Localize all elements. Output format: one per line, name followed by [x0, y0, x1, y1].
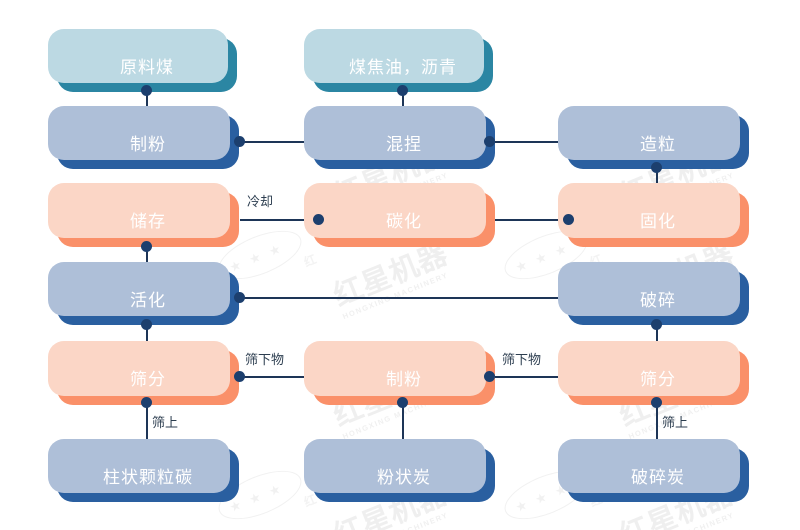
watermark-brand-en: HONGXING MACHINERY	[341, 268, 456, 321]
edge-label-cooling: 冷却	[247, 191, 273, 210]
node-label: 制粉	[386, 365, 422, 390]
node-label: 制粉	[130, 130, 166, 155]
node-label: 筛分	[130, 365, 166, 390]
node-pulverize-1[interactable]: 制粉	[57, 115, 239, 169]
edge-label-undersize-left: 筛下物	[245, 349, 284, 368]
connector-dot	[397, 85, 408, 96]
connector-dot	[141, 397, 152, 408]
node-label: 储存	[130, 207, 166, 232]
connector-dot	[651, 319, 662, 330]
node-activation[interactable]: 活化	[57, 271, 239, 325]
connector-dot	[141, 241, 152, 252]
watermark-logo: 红星机器 HONGXING MACHINERY	[330, 525, 450, 530]
connector-dot	[651, 397, 662, 408]
watermark-logo: 红星机器 HONGXING MACHINERY	[616, 525, 736, 530]
node-label: 筛分	[640, 365, 676, 390]
node-crushed-carbon[interactable]: 破碎炭	[567, 448, 749, 502]
connector-crushing-to-activation	[240, 297, 568, 299]
watermark-logo: 红星机器 HONGXING MACHINERY	[330, 285, 450, 324]
node-kneading[interactable]: 混捏	[313, 115, 495, 169]
node-label: 破碎炭	[631, 463, 685, 488]
connector-dot	[234, 371, 245, 382]
node-label: 混捏	[386, 130, 422, 155]
watermark-brand-en: HONGXING MACHINERY	[627, 508, 742, 530]
node-powdered-carbon[interactable]: 粉状炭	[313, 448, 495, 502]
node-granulation[interactable]: 造粒	[567, 115, 749, 169]
node-carbonization[interactable]: 碳化	[313, 192, 495, 247]
connector-dot	[651, 162, 662, 173]
edge-label-oversize-right: 筛上	[662, 412, 688, 431]
node-label: 煤焦油，沥青	[349, 53, 457, 78]
connector-dot	[563, 214, 574, 225]
node-label: 破碎	[640, 286, 676, 311]
connector-dot	[141, 319, 152, 330]
node-label: 造粒	[640, 130, 676, 155]
node-label: 柱状颗粒碳	[103, 463, 193, 488]
watermark-brand-cn: 红星机器	[330, 240, 452, 312]
connector-dot	[234, 136, 245, 147]
connector-kneading-to-granulation	[488, 141, 568, 143]
node-label: 活化	[130, 286, 166, 311]
node-raw-coal[interactable]: 原料煤	[57, 38, 237, 92]
node-label: 碳化	[386, 207, 422, 232]
connector-dot	[397, 397, 408, 408]
node-coal-tar-pitch[interactable]: 煤焦油，沥青	[313, 38, 493, 92]
node-crushing[interactable]: 破碎	[567, 271, 749, 325]
node-label: 固化	[640, 207, 676, 232]
connector-dot	[141, 85, 152, 96]
connector-dot	[484, 371, 495, 382]
connector-dot	[313, 214, 324, 225]
edge-label-undersize-right: 筛下物	[502, 349, 541, 368]
node-columnar-carbon[interactable]: 柱状颗粒碳	[57, 448, 239, 502]
watermark-mark-cn: 红	[301, 250, 319, 270]
watermark-brand-en: HONGXING MACHINERY	[341, 508, 456, 530]
edge-label-oversize-left: 筛上	[152, 412, 178, 431]
connector-dot	[234, 292, 245, 303]
node-label: 原料煤	[120, 53, 174, 78]
connector-dot	[484, 136, 495, 147]
node-storage[interactable]: 储存	[57, 192, 239, 247]
node-solidification[interactable]: 固化	[567, 192, 749, 247]
flowchart-canvas: 红星机器 HONGXING MACHINERY ★ ★ ★ 红 红星机器 HON…	[0, 0, 800, 530]
node-label: 粉状炭	[377, 463, 431, 488]
